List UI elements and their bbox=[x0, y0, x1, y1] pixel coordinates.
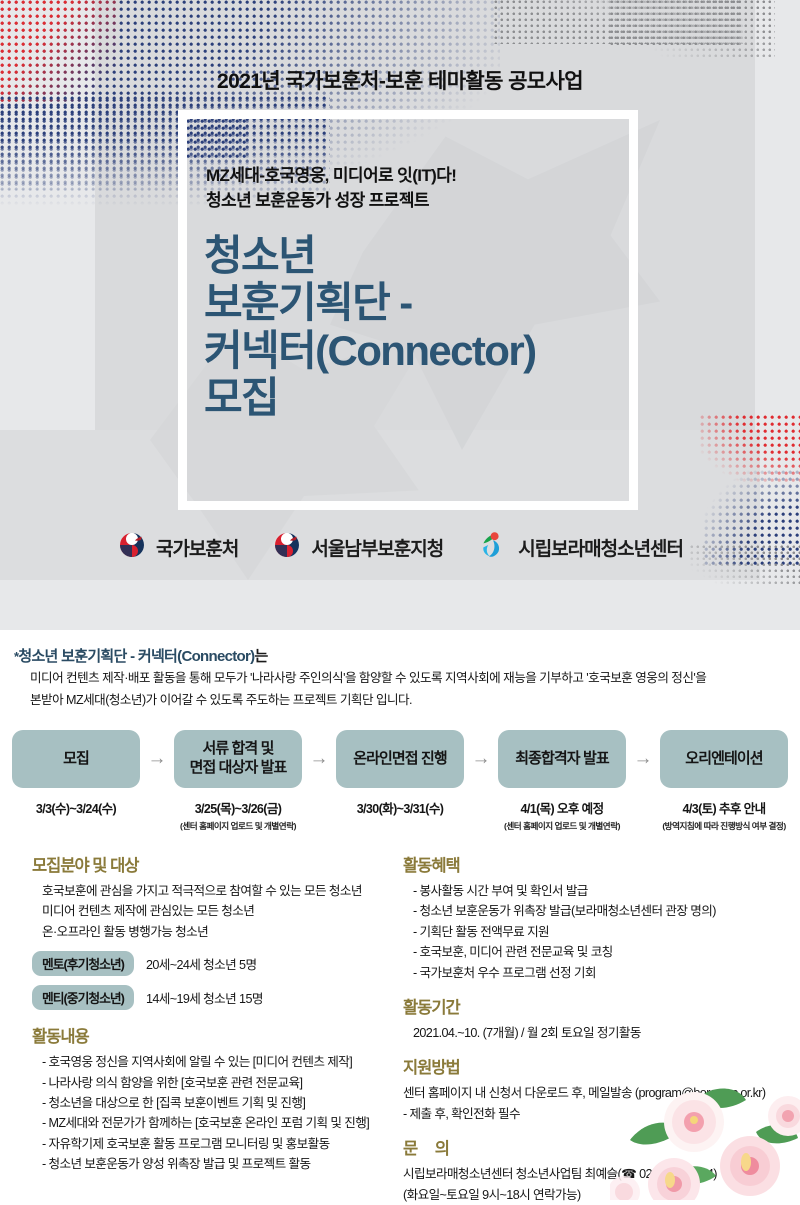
section-benefits-heading: 활동혜택 bbox=[403, 852, 800, 876]
timeline-step-3-date: 3/30(화)~3/31(수) bbox=[357, 798, 444, 817]
timeline-step-1-date: 3/3(수)~3/24(수) bbox=[36, 798, 116, 817]
activity-line-5: - 자유학기제 호국보훈 활동 프로그램 모니터링 및 홍보활동 bbox=[42, 1134, 395, 1154]
poster-title-line-4: 모집 bbox=[204, 374, 634, 421]
intro-body-line-2: 본받아 MZ세대(청소년)가 이어갈 수 있도록 주도하는 프로젝트 기획단 입… bbox=[30, 690, 782, 712]
section-benefits-lines: - 봉사활동 시간 부여 및 확인서 발급 - 청소년 보훈운동가 위촉장 발급… bbox=[403, 881, 800, 983]
recruit-badge-row-menti: 멘티(중기청소년) 14세~19세 청소년 15명 bbox=[32, 985, 395, 1010]
timeline-step-3: 온라인면접 진행 3/30(화)~3/31(수) bbox=[336, 730, 464, 820]
badge-mento: 멘토(후기청소년) bbox=[32, 951, 134, 976]
poster-subtitle-line-1: MZ세대-호국영웅, 미디어로 잇(IT)다! bbox=[206, 164, 626, 189]
section-recruit-lines: 호국보훈에 관심을 가지고 적극적으로 참여할 수 있는 모든 청소년 미디어 … bbox=[32, 881, 395, 942]
timeline-step-3-label: 온라인면접 진행 bbox=[336, 730, 464, 788]
section-apply-heading: 지원방법 bbox=[403, 1054, 800, 1078]
left-column: 모집분야 및 대상 호국보훈에 관심을 가지고 적극적으로 참여할 수 있는 모… bbox=[0, 852, 395, 1205]
contact-line-2: (화요일~토요일 9시~18시 연락가능) bbox=[403, 1185, 800, 1205]
timeline-arrow-1-icon: → bbox=[140, 730, 174, 788]
process-timeline: 모집 3/3(수)~3/24(수) → 서류 합격 및면접 대상자 발표 3/2… bbox=[0, 730, 800, 832]
timeline-step-1-label: 모집 bbox=[12, 730, 140, 788]
benefit-line-2: - 청소년 보훈운동가 위촉장 발급(보라매청소년센터 관장 명의) bbox=[413, 901, 800, 921]
timeline-step-5-label: 오리엔테이션 bbox=[660, 730, 788, 788]
section-apply: 지원방법 센터 홈페이지 내 신청서 다운로드 후, 메일발송 (program… bbox=[403, 1054, 800, 1124]
timeline-step-2-note: (센터 홈페이지 업로드 및 개별연락) bbox=[180, 820, 296, 832]
benefit-line-5: - 국가보훈처 우수 프로그램 선정 기회 bbox=[413, 963, 800, 983]
logo-row: 국가보훈처 서울남부보훈지청 bbox=[0, 518, 800, 576]
section-period-lines: 2021.04.~10. (7개월) / 월 2회 토요일 정기활동 bbox=[403, 1023, 800, 1043]
timeline-step-4-label: 최종합격자 발표 bbox=[498, 730, 626, 788]
timeline-step-4: 최종합격자 발표 4/1(목) 오후 예정 (센터 홈페이지 업로드 및 개별연… bbox=[498, 730, 626, 832]
logo-mpva: 국가보훈처 bbox=[117, 530, 238, 565]
contact-line-1: 시립보라매청소년센터 청소년사업팀 최예슬(☎ 02-834-7233,4) bbox=[403, 1164, 800, 1184]
recruit-line-1: 호국보훈에 관심을 가지고 적극적으로 참여할 수 있는 모든 청소년 bbox=[42, 881, 395, 901]
intro-title-tail: 는 bbox=[254, 648, 267, 665]
taegeuk-icon bbox=[272, 530, 302, 565]
intro-body: 미디어 컨텐츠 제작·배포 활동을 통해 모두가 '나라사랑 주인의식'을 함양… bbox=[0, 666, 800, 711]
badge-mento-detail: 20세~24세 청소년 5명 bbox=[146, 954, 257, 973]
benefit-line-3: - 기획단 활동 전액무료 지원 bbox=[413, 922, 800, 942]
section-recruit-heading: 모집분야 및 대상 bbox=[32, 852, 395, 876]
period-line-1: 2021.04.~10. (7개월) / 월 2회 토요일 정기활동 bbox=[413, 1023, 800, 1043]
boramae-center-icon bbox=[477, 529, 509, 566]
intro-title: *청소년 보훈기획단 - 커넥터(Connector)는 bbox=[0, 645, 800, 666]
timeline-arrow-3-icon: → bbox=[464, 730, 498, 788]
activity-line-4: - MZ세대와 전문가가 함께하는 [호국보훈 온라인 포럼 기획 및 진행] bbox=[42, 1113, 395, 1133]
taegeuk-icon bbox=[117, 530, 147, 565]
timeline-step-2-date: 3/25(목)~3/26(금) bbox=[195, 798, 282, 817]
section-contact: 문 의 시립보라매청소년센터 청소년사업팀 최예슬(☎ 02-834-7233,… bbox=[403, 1135, 800, 1205]
campaign-kicker: 2021년 국가보훈처-보훈 테마활동 공모사업 bbox=[0, 65, 800, 95]
logo-label-mpva: 국가보훈처 bbox=[156, 534, 238, 561]
timeline-step-4-note: (센터 홈페이지 업로드 및 개별연락) bbox=[504, 820, 620, 832]
recruit-badge-row-mento: 멘토(후기청소년) 20세~24세 청소년 5명 bbox=[32, 951, 395, 976]
section-apply-lines: 센터 홈페이지 내 신청서 다운로드 후, 메일발송 (program@bora… bbox=[403, 1083, 800, 1124]
timeline-step-1: 모집 3/3(수)~3/24(수) bbox=[12, 730, 140, 820]
benefit-line-1: - 봉사활동 시간 부여 및 확인서 발급 bbox=[413, 881, 800, 901]
logo-boramae-center: 시립보라매청소년센터 bbox=[477, 529, 683, 566]
activity-line-2: - 나라사랑 의식 함양을 위한 [호국보훈 관련 전문교육] bbox=[42, 1073, 395, 1093]
section-benefits: 활동혜택 - 봉사활동 시간 부여 및 확인서 발급 - 청소년 보훈운동가 위… bbox=[403, 852, 800, 983]
logo-seoul-south-branch: 서울남부보훈지청 bbox=[272, 530, 443, 565]
timeline-step-2-label: 서류 합격 및면접 대상자 발표 bbox=[174, 730, 302, 788]
activity-line-1: - 호국영웅 정신을 지역사회에 알릴 수 있는 [미디어 컨텐츠 제작] bbox=[42, 1052, 395, 1072]
logo-label-seoul-south-branch: 서울남부보훈지청 bbox=[311, 534, 443, 561]
intro-block: *청소년 보훈기획단 - 커넥터(Connector)는 미디어 컨텐츠 제작·… bbox=[0, 645, 800, 711]
recruit-line-2: 미디어 컨텐츠 제작에 관심있는 모든 청소년 bbox=[42, 901, 395, 921]
activity-line-6: - 청소년 보훈운동가 양성 위촉장 발급 및 프로젝트 활동 bbox=[42, 1154, 395, 1174]
activity-line-3: - 청소년을 대상으로 한 [집콕 보훈이벤트 기획 및 진행] bbox=[42, 1093, 395, 1113]
timeline-step-4-date: 4/1(목) 오후 예정 bbox=[521, 798, 604, 817]
timeline-step-5-note: (방역지침에 따라 진행방식 여부 결정) bbox=[662, 820, 785, 832]
section-activities-lines: - 호국영웅 정신을 지역사회에 알릴 수 있는 [미디어 컨텐츠 제작] - … bbox=[32, 1052, 395, 1174]
poster-subtitle: MZ세대-호국영웅, 미디어로 잇(IT)다! 청소년 보훈운동가 성장 프로젝… bbox=[206, 164, 626, 213]
right-column: 활동혜택 - 봉사활동 시간 부여 및 확인서 발급 - 청소년 보훈운동가 위… bbox=[395, 852, 800, 1205]
poster-subtitle-line-2: 청소년 보훈운동가 성장 프로젝트 bbox=[206, 189, 626, 214]
section-recruit: 모집분야 및 대상 호국보훈에 관심을 가지고 적극적으로 참여할 수 있는 모… bbox=[32, 852, 395, 1010]
timeline-step-5-date: 4/3(토) 추후 안내 bbox=[683, 798, 766, 817]
poster-title-line-3: 커넥터(Connector) bbox=[204, 327, 634, 374]
halftone-dots-diagonal-gray bbox=[610, 0, 740, 46]
apply-line-2: - 제출 후, 확인전화 필수 bbox=[403, 1104, 800, 1124]
recruit-badges: 멘토(후기청소년) 20세~24세 청소년 5명 멘티(중기청소년) 14세~1… bbox=[32, 951, 395, 1010]
badge-menti-detail: 14세~19세 청소년 15명 bbox=[146, 988, 263, 1007]
timeline-arrow-4-icon: → bbox=[626, 730, 660, 788]
recruit-line-3: 온·오프라인 활동 병행가능 청소년 bbox=[42, 922, 395, 942]
poster-title: 청소년 보훈기획단 - 커넥터(Connector) 모집 bbox=[204, 232, 634, 422]
logo-label-boramae-center: 시립보라매청소년센터 bbox=[518, 534, 683, 561]
poster-title-line-1: 청소년 bbox=[204, 232, 634, 279]
poster-title-line-2: 보훈기획단 - bbox=[204, 279, 634, 326]
intro-body-line-1: 미디어 컨텐츠 제작·배포 활동을 통해 모두가 '나라사랑 주인의식'을 함양… bbox=[30, 668, 782, 690]
section-activities-heading: 활동내용 bbox=[32, 1023, 395, 1047]
section-contact-lines: 시립보라매청소년센터 청소년사업팀 최예슬(☎ 02-834-7233,4) (… bbox=[403, 1164, 800, 1205]
timeline-step-2: 서류 합격 및면접 대상자 발표 3/25(목)~3/26(금) (센터 홈페이… bbox=[174, 730, 302, 832]
timeline-step-5: 오리엔테이션 4/3(토) 추후 안내 (방역지침에 따라 진행방식 여부 결정… bbox=[660, 730, 788, 832]
section-activities: 활동내용 - 호국영웅 정신을 지역사회에 알릴 수 있는 [미디어 컨텐츠 제… bbox=[32, 1023, 395, 1174]
section-period: 활동기간 2021.04.~10. (7개월) / 월 2회 토요일 정기활동 bbox=[403, 994, 800, 1043]
poster-header: 2021년 국가보훈처-보훈 테마활동 공모사업 MZ세대-호국영웅, 미디어로… bbox=[0, 0, 800, 630]
benefit-line-4: - 호국보훈, 미디어 관련 전문교육 및 코칭 bbox=[413, 942, 800, 962]
badge-menti: 멘티(중기청소년) bbox=[32, 985, 134, 1010]
intro-title-main: 청소년 보훈기획단 - 커넥터(Connector) bbox=[18, 648, 254, 665]
section-period-heading: 활동기간 bbox=[403, 994, 800, 1018]
section-contact-heading: 문 의 bbox=[403, 1135, 800, 1159]
timeline-arrow-2-icon: → bbox=[302, 730, 336, 788]
apply-line-1: 센터 홈페이지 내 신청서 다운로드 후, 메일발송 (program@bora… bbox=[403, 1083, 800, 1103]
content-columns: 모집분야 및 대상 호국보훈에 관심을 가지고 적극적으로 참여할 수 있는 모… bbox=[0, 852, 800, 1205]
